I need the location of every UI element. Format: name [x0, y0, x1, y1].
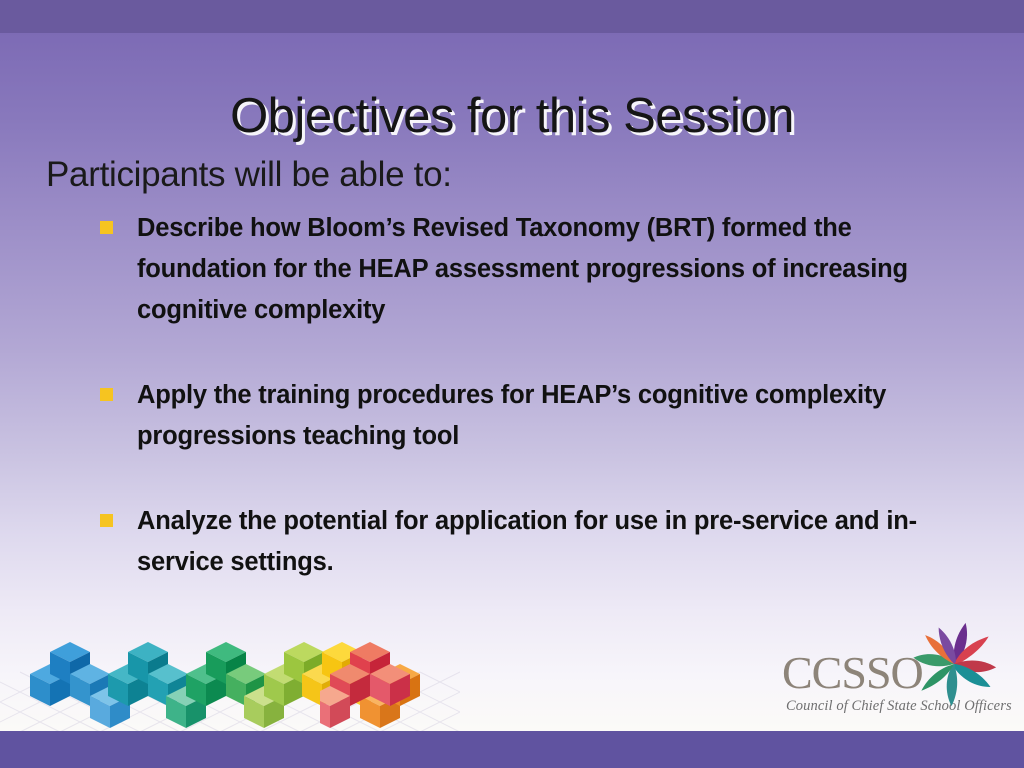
page-title: Objectives for this Session	[0, 88, 1024, 144]
list-item-label: Describe how Bloom’s Revised Taxonomy (B…	[137, 208, 937, 331]
ccsso-logo: CCSSO Council of Chief State School Offi…	[778, 618, 1018, 726]
slide-canvas: .c polygon { stroke: none; }	[0, 0, 1024, 768]
list-item-label: Analyze the potential for application fo…	[137, 501, 937, 583]
square-bullet-icon	[100, 514, 113, 527]
ccsso-star-icon	[906, 614, 1002, 710]
list-item: Apply the training procedures for HEAP’s…	[100, 375, 950, 457]
square-bullet-icon	[100, 388, 113, 401]
objectives-list: Describe how Bloom’s Revised Taxonomy (B…	[100, 208, 950, 583]
list-item: Describe how Bloom’s Revised Taxonomy (B…	[100, 208, 950, 331]
list-item: Analyze the potential for application fo…	[100, 501, 950, 583]
lead-in-text: Participants will be able to:	[46, 155, 452, 195]
top-purple-band	[0, 0, 1024, 33]
ccsso-wordmark: CCSSO	[782, 650, 923, 696]
list-item-label: Apply the training procedures for HEAP’s…	[137, 375, 937, 457]
bottom-purple-band	[0, 731, 1024, 768]
rainbow-cube-strip-red-end	[320, 626, 450, 731]
square-bullet-icon	[100, 221, 113, 234]
